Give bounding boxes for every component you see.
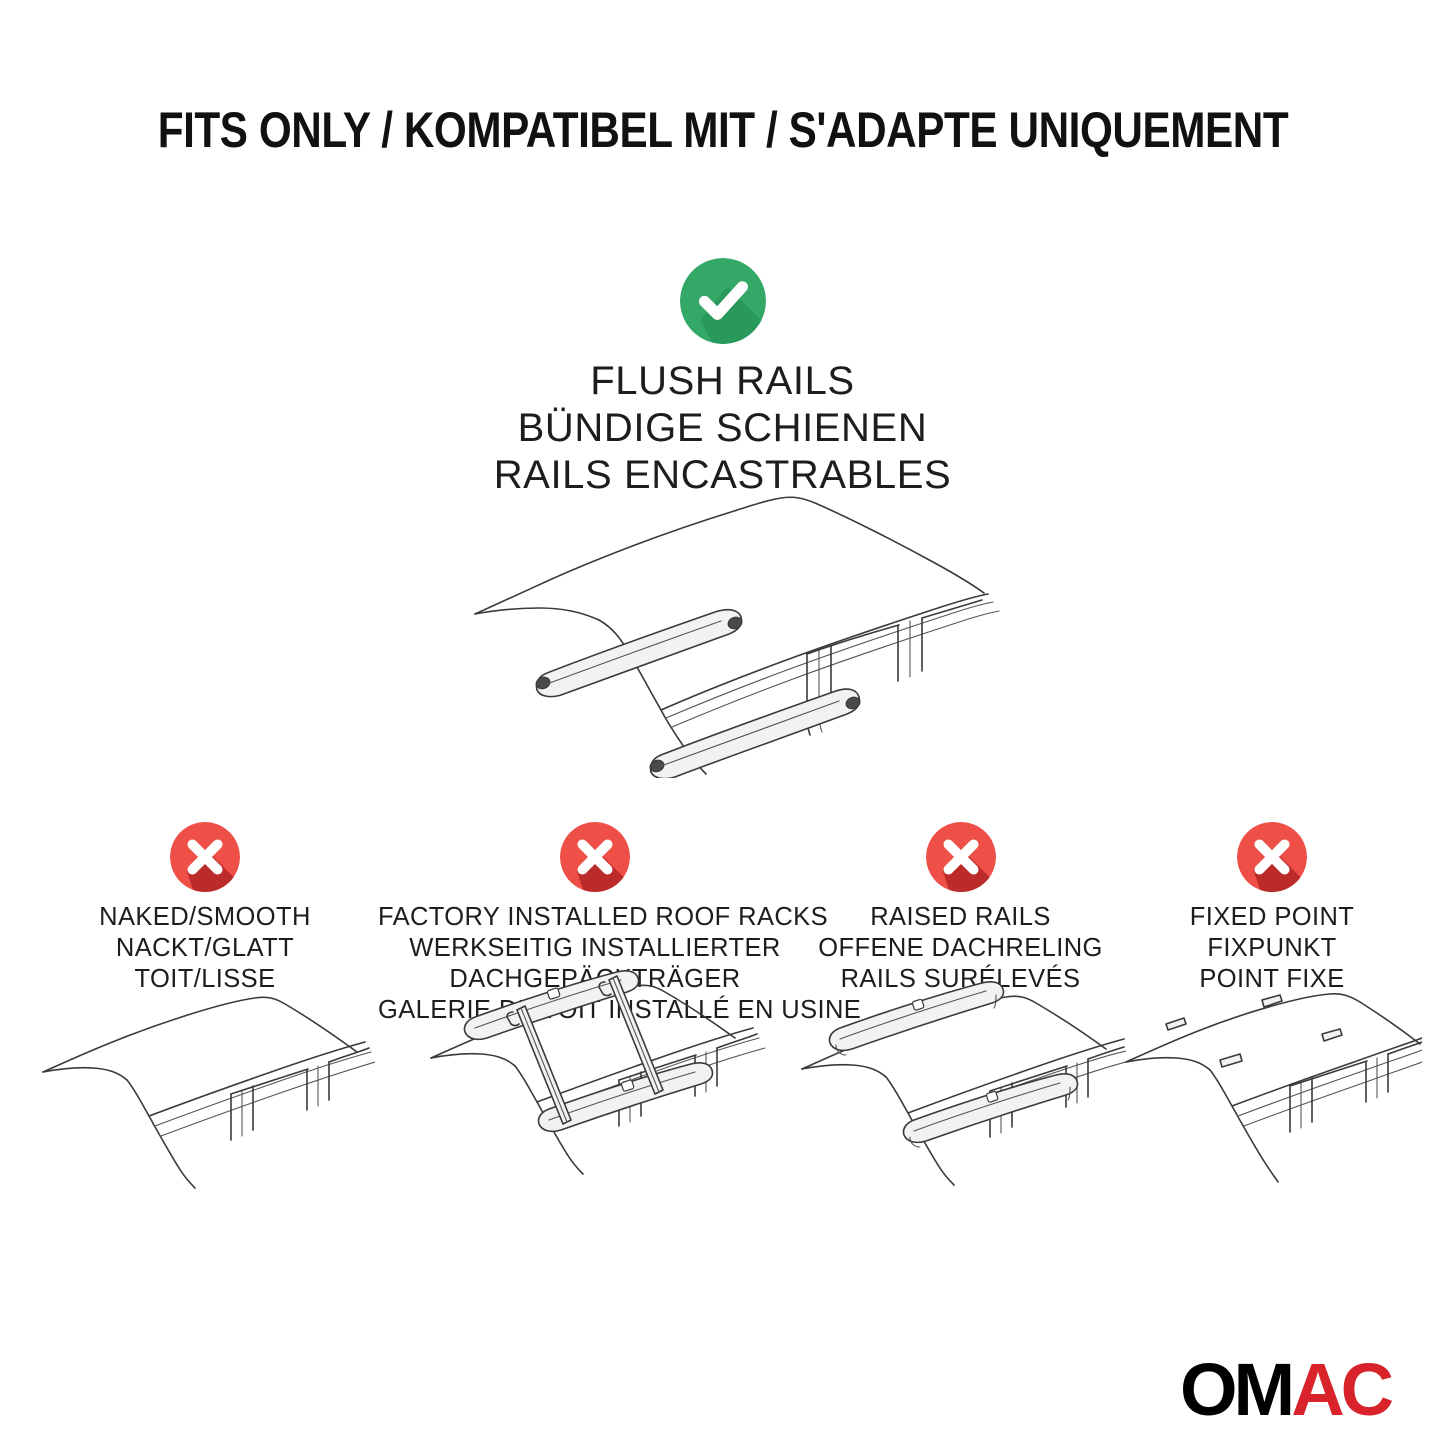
- incompatible-section: NAKED/SMOOTH NACKT/GLATT TOIT/LISSE: [0, 822, 1445, 1252]
- incompatible-item-raised-rails: RAISED RAILS OFFENE DACHRELING RAILS SUR…: [808, 822, 1113, 995]
- incompatible-item-factory-racks: FACTORY INSTALLED ROOF RACKS WERKSEITIG …: [378, 822, 812, 1026]
- label-en: FACTORY INSTALLED ROOF RACKS: [378, 902, 812, 933]
- cross-circle-icon-wrap: [926, 822, 996, 892]
- label-en: FIXED POINT: [1122, 902, 1422, 933]
- incompatible-labels-naked: NAKED/SMOOTH NACKT/GLATT TOIT/LISSE: [30, 902, 380, 995]
- incompatible-item-naked: NAKED/SMOOTH NACKT/GLATT TOIT/LISSE: [30, 822, 380, 995]
- omac-logo-om: OM: [1180, 1348, 1291, 1431]
- cross-circle-icon: [926, 822, 996, 892]
- omac-logo-ac: AC: [1291, 1348, 1390, 1431]
- page-title-text: FITS ONLY / KOMPATIBEL MIT / S'ADAPTE UN…: [157, 104, 1288, 157]
- car-roof-raised-rails-illustration: [796, 977, 1126, 1190]
- check-circle-icon: [680, 258, 766, 344]
- incompatible-labels-fixed-point: FIXED POINT FIXPUNKT POINT FIXE: [1122, 902, 1422, 995]
- omac-logo: OMAC: [1180, 1352, 1422, 1428]
- car-roof-fixed-point-illustration: [1122, 990, 1422, 1190]
- cross-circle-icon-wrap: [1237, 822, 1307, 892]
- page-title: FITS ONLY / KOMPATIBEL MIT / S'ADAPTE UN…: [0, 104, 1445, 157]
- car-roof-naked-illustration: [35, 990, 375, 1190]
- cross-circle-icon: [560, 822, 630, 892]
- omac-logo-text: OMAC: [1180, 1352, 1422, 1428]
- compatibility-infographic: FITS ONLY / KOMPATIBEL MIT / S'ADAPTE UN…: [0, 0, 1445, 1445]
- cross-circle-icon: [170, 822, 240, 892]
- incompatible-item-fixed-point: FIXED POINT FIXPUNKT POINT FIXE: [1122, 822, 1422, 995]
- label-de: FIXPUNKT: [1122, 933, 1422, 964]
- compatible-label-de: BÜNDIGE SCHIENEN: [0, 405, 1445, 452]
- cross-circle-icon-wrap: [170, 822, 240, 892]
- cross-circle-icon-wrap: [560, 822, 630, 892]
- label-en: RAISED RAILS: [808, 902, 1113, 933]
- cross-circle-icon: [1237, 822, 1307, 892]
- label-de: NACKT/GLATT: [30, 933, 380, 964]
- label-en: NAKED/SMOOTH: [30, 902, 380, 933]
- compatible-section: FLUSH RAILS BÜNDIGE SCHIENEN RAILS ENCAS…: [0, 258, 1445, 499]
- car-roof-flush-rails-illustration: [463, 478, 1003, 778]
- compatible-label-en: FLUSH RAILS: [0, 358, 1445, 405]
- car-roof-factory-racks-illustration: [421, 962, 769, 1190]
- label-de-1: WERKSEITIG INSTALLIERTER: [378, 933, 812, 964]
- label-de: OFFENE DACHRELING: [808, 933, 1113, 964]
- check-circle-icon-wrap: [680, 258, 766, 344]
